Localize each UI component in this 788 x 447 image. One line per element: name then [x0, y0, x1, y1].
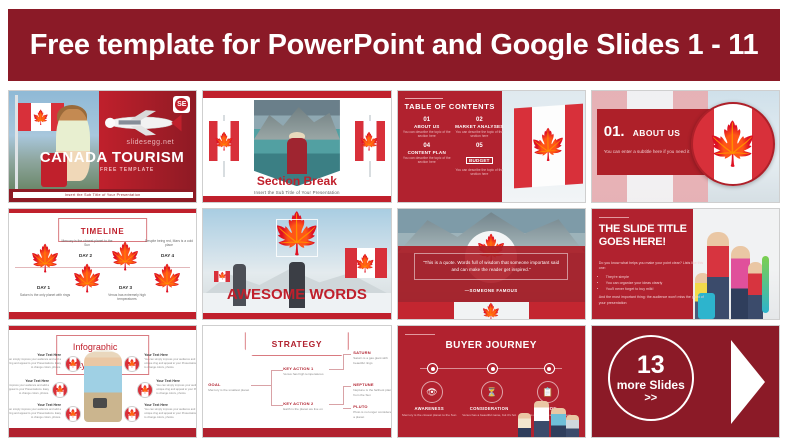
infographic-item-head: Your Text Here: [156, 379, 196, 383]
funnel-icon: ⏳: [481, 381, 503, 403]
infographic-item-body: You can simply impress your audience and…: [9, 358, 61, 370]
camera-icon: [93, 398, 107, 408]
arrow-right-icon[interactable]: [731, 340, 765, 424]
infographic-item-head: Your Text Here: [9, 403, 61, 407]
more-slides-count: 13: [637, 353, 665, 378]
strategy-result[interactable]: PLUTO Pluto is no longer considered a pl…: [353, 404, 390, 419]
family-photo: [514, 391, 585, 437]
maple-leaf-icon: 🍁: [151, 265, 183, 291]
section-break-title: Section Break: [203, 174, 390, 188]
infographic-item[interactable]: Your Text Here You can simply impress yo…: [9, 403, 61, 420]
slide-thumbnail-table-of-contents[interactable]: 🍁 TABLE OF CONTENTS 01 ABOUT US You can …: [397, 90, 586, 203]
strategy-action-body: Venus has high temperatures: [283, 372, 325, 376]
awesome-words-title: AWESOME WORDS: [227, 286, 367, 303]
canada-flag-icon: 🍁: [124, 406, 140, 422]
quote-author: —SOMEONE FAMOUS: [398, 288, 585, 293]
more-slides-label: more Slides: [617, 379, 685, 392]
about-us-title: ABOUT US: [633, 128, 681, 138]
journey-stage-body: Venus has a beautiful name, but it's hot: [461, 413, 517, 417]
child-figure: [518, 413, 531, 437]
timeline-point-text: Venus has extremely high temperatures: [101, 293, 153, 302]
cover-title: CANADA TOURISM: [40, 149, 185, 166]
top-accent-bar: [9, 209, 196, 213]
infographic-item[interactable]: Your Text Here You can simply impress yo…: [156, 379, 196, 396]
infographic-item-body: You can simply impress your audience and…: [144, 358, 196, 370]
infographic-item[interactable]: Your Text Here You can simply impress yo…: [144, 353, 196, 370]
decorative-frame: [276, 219, 318, 257]
infographic-item-body: You can simply impress your audience and…: [9, 408, 61, 420]
person-figure: [287, 138, 308, 174]
slide-thumbnail-infographic-style[interactable]: Infographic Style 🍁 Your Text Here You c…: [8, 325, 197, 438]
timeline-point-label: DAY 3: [119, 285, 132, 290]
toc-item-number: 05: [455, 143, 504, 149]
maple-leaf-icon: 🍁: [481, 305, 501, 319]
bullet-item: You'll never forget to buy milk!: [606, 287, 708, 293]
timeline-point-text: Despite being red, Mars is a cold place: [143, 239, 195, 248]
woman-figure: [534, 401, 550, 437]
strategy-result-head: NEPTUNE: [353, 382, 390, 387]
page-title: Free template for PowerPoint and Google …: [30, 29, 759, 62]
bottom-accent-bar: [9, 312, 196, 319]
canada-flag-icon: 🍁: [137, 382, 153, 398]
journey-stage-head: AWARENESS: [401, 406, 457, 411]
canada-flag-circle-icon: 🍁: [691, 102, 775, 186]
quote-box: "This is a quote. Words full of wisdom t…: [414, 253, 568, 280]
toc-items: 01 ABOUT US You can describe the topic o…: [403, 117, 504, 177]
canada-flag-icon-right: 🍁: [355, 121, 385, 161]
canada-flag-icon-large: 🍁: [345, 248, 387, 278]
toc-item[interactable]: 05 BUDGET You can describe the topic of …: [455, 143, 504, 177]
about-us-subtitle: You can enter a subtitle here if you nee…: [604, 149, 690, 156]
journey-stage[interactable]: AWARENESS Mercury is the closest planet …: [401, 406, 457, 417]
strategy-goal-body: Mercury is the smallest planet: [208, 388, 250, 392]
strategy-action-head: KEY ACTION 2: [283, 401, 325, 406]
maple-leaf-icon: 🍁: [109, 243, 141, 269]
strategy-result[interactable]: NEPTUNE Neptune is the farthest planet f…: [353, 382, 390, 397]
toc-item[interactable]: 02 MARKET ANALYSES You can describe the …: [455, 117, 504, 139]
slide-thumbnail-quote[interactable]: 🍁 "This is a quote. Words full of wisdom…: [397, 208, 586, 321]
tourist-figure: [84, 352, 122, 422]
strategy-result-body: Pluto is no longer considered a planet: [353, 410, 390, 419]
top-accent-bar: [9, 326, 196, 330]
canada-flag-icon-left: 🍁: [209, 121, 239, 161]
infographic-item[interactable]: Your Text Here You can simply impress yo…: [144, 403, 196, 420]
journey-stage-head: CONSIDERATION: [461, 406, 517, 411]
timeline-point-label: DAY 2: [79, 253, 92, 258]
maple-leaf-icon: 🍁: [29, 245, 61, 271]
quote-text: "This is a quote. Words full of wisdom t…: [419, 259, 563, 274]
umbrella-icon: [762, 256, 769, 313]
strategy-result-body: Saturn is a gas giant with beautiful rin…: [353, 356, 390, 365]
slideegg-logo-badge: SE: [173, 96, 190, 113]
title-rule: [405, 334, 435, 335]
slide-thumbnail-cover[interactable]: 🍁 SE slidesegg.net CANADA TOURISM: [8, 90, 197, 203]
strategy-result-head: SATURN: [353, 350, 390, 355]
timeline-point-label: DAY 1: [37, 285, 50, 290]
woman-figure: [731, 246, 750, 319]
template-preview-page: Free template for PowerPoint and Google …: [0, 0, 788, 447]
slide-thumbnail-about-us[interactable]: 01. ABOUT US You can enter a subtitle he…: [591, 90, 780, 203]
slide-thumbnail-strategy[interactable]: STRATEGY GOAL Mercury is the smallest pl…: [202, 325, 391, 438]
airplane-icon: [96, 105, 182, 139]
title-rule: [599, 217, 629, 218]
bottom-accent-bar: [203, 428, 390, 437]
body-intro: Do you know what helps you make your poi…: [599, 261, 708, 273]
canada-flag-icon: 🍁: [52, 382, 68, 398]
timeline-point-label: DAY 4: [161, 253, 174, 258]
strategy-title-box: STRATEGY: [245, 332, 349, 356]
section-break-subtitle: Insert the Sub Title of Your Presentatio…: [203, 190, 390, 195]
about-us-number: 01.: [604, 123, 625, 140]
strategy-result[interactable]: SATURN Saturn is a gas giant with beauti…: [353, 350, 390, 365]
slide-thumbnail-section-break[interactable]: 🍁 🍁 Section Break Insert the Sub Title o…: [202, 90, 391, 203]
toc-item-number: 02: [455, 117, 504, 123]
toc-photo: 🍁: [502, 91, 584, 202]
toc-item-desc: You can describe the topic of the sectio…: [455, 130, 504, 139]
child-figure: [566, 415, 579, 437]
journey-stage[interactable]: CONSIDERATION Venus has a beautiful name…: [461, 406, 517, 417]
toc-item-number: 04: [403, 143, 452, 149]
toc-item-desc: You can describe the topic of the sectio…: [403, 156, 452, 165]
toc-item-name: MARKET ANALYSES: [455, 124, 504, 129]
toc-item-name: BUDGET: [466, 157, 493, 164]
toc-item-desc: You can describe the topic of the sectio…: [455, 168, 504, 177]
cover-footer-text: Insert the Sub Title of Your Presentatio…: [65, 193, 141, 197]
slide-thumbnail-timeline[interactable]: TIMELINE 🍁 🍁 🍁 🍁 Mercury is the closest …: [8, 208, 197, 321]
bottom-accent-bar: [203, 313, 390, 319]
toc-item[interactable]: 01 ABOUT US You can describe the topic o…: [403, 117, 452, 139]
cover-watermark: slidesegg.net: [126, 139, 174, 146]
canada-flag-icon: 🍁: [65, 406, 81, 422]
maple-leaf-icon: 🍁: [71, 265, 103, 291]
journey-node: [427, 363, 438, 374]
slide-thumbnail-title-goes-here[interactable]: THE SLIDE TITLE GOES HERE! Do you know w…: [591, 208, 780, 321]
infographic-item-head: Your Text Here: [9, 379, 49, 383]
cover-subtitle: FREE TEMPLATE: [100, 167, 154, 173]
slide-thumbnail-awesome-words[interactable]: 🍁 🍁 🍁 AWESOME WORDS: [202, 208, 391, 321]
strategy-action-body: Earth is the planet we live on: [283, 407, 325, 411]
strategy-goal-head: GOAL: [208, 382, 250, 387]
body-outro: And the most important thing: the audien…: [599, 295, 708, 307]
infographic-item-head: Your Text Here: [9, 353, 61, 357]
strategy-title: STRATEGY: [272, 339, 322, 349]
strategy-result-body: Neptune is the farthest planet from the …: [353, 388, 390, 397]
canada-flag-icon-small: 🍁: [214, 271, 230, 282]
infographic-item-head: Your Text Here: [144, 353, 196, 357]
infographic-item-body: You can simply impress your audience and…: [9, 384, 49, 396]
chevron-right-icon: >>: [644, 393, 657, 404]
slide-title: THE SLIDE TITLE GOES HERE!: [599, 223, 715, 251]
title-rule: [405, 98, 443, 99]
body-bullet-list: They're simple You can organize your ide…: [606, 275, 708, 292]
slide-body: Do you know what helps you make your poi…: [599, 261, 708, 307]
strategy-action[interactable]: KEY ACTION 1 Venus has high temperatures: [283, 366, 325, 376]
timeline-point-text: Mercury is the closest planet to the Sun: [61, 239, 113, 248]
toc-item-desc: You can describe the topic of the sectio…: [403, 130, 452, 139]
strategy-goal[interactable]: GOAL Mercury is the smallest planet: [208, 382, 250, 392]
canada-flag-icon: 🍁: [514, 104, 583, 189]
infographic-item-head: Your Text Here: [144, 403, 196, 407]
toc-title: TABLE OF CONTENTS: [405, 102, 495, 111]
infographic-item[interactable]: Your Text Here You can simply impress yo…: [9, 379, 49, 396]
strategy-action-head: KEY ACTION 1: [283, 366, 325, 371]
slide-thumbnail-more-slides[interactable]: 13 more Slides >>: [591, 325, 780, 438]
page-header-banner: Free template for PowerPoint and Google …: [8, 9, 780, 81]
eye-icon: 👁: [421, 381, 443, 403]
slideegg-logo-text: SE: [175, 98, 188, 111]
infographic-item-body: You can simply impress your audience and…: [156, 384, 196, 396]
infographic-item[interactable]: Your Text Here You can simply impress yo…: [9, 353, 61, 370]
man-figure: [551, 408, 567, 437]
journey-node: [487, 363, 498, 374]
strategy-action[interactable]: KEY ACTION 2 Earth is the planet we live…: [283, 401, 325, 411]
top-accent-bar: [203, 91, 390, 98]
cover-footer-bar: Insert the Sub Title of Your Presentatio…: [9, 189, 196, 202]
infographic-item-body: You can simply impress your audience and…: [144, 408, 196, 420]
toc-item[interactable]: 04 CONTENT PLAN You can describe the top…: [403, 143, 452, 177]
journey-node: [544, 363, 555, 374]
bottom-accent-bar: [203, 196, 390, 202]
bottom-accent-bar: [9, 428, 196, 437]
timeline-title: TIMELINE: [81, 227, 125, 236]
slide-thumbnail-buyer-journey[interactable]: BUYER JOURNEY 👁 ⏳ 📋 AWARENESS Mercury is…: [397, 325, 586, 438]
slide-thumbnail-grid: 🍁 SE slidesegg.net CANADA TOURISM: [8, 90, 780, 438]
more-slides-ring: 13 more Slides >>: [608, 335, 694, 421]
strategy-result-head: PLUTO: [353, 404, 390, 409]
toc-item-name: CONTENT PLAN: [403, 150, 452, 155]
timeline-point-text: Saturn is the only planet with rings: [19, 293, 71, 298]
buyer-journey-title: BUYER JOURNEY: [398, 340, 585, 351]
toc-item-number: 01: [403, 117, 452, 123]
journey-stage-body: Mercury is the closest planet to the Sun: [401, 413, 457, 417]
toc-item-name: ABOUT US: [403, 124, 452, 129]
